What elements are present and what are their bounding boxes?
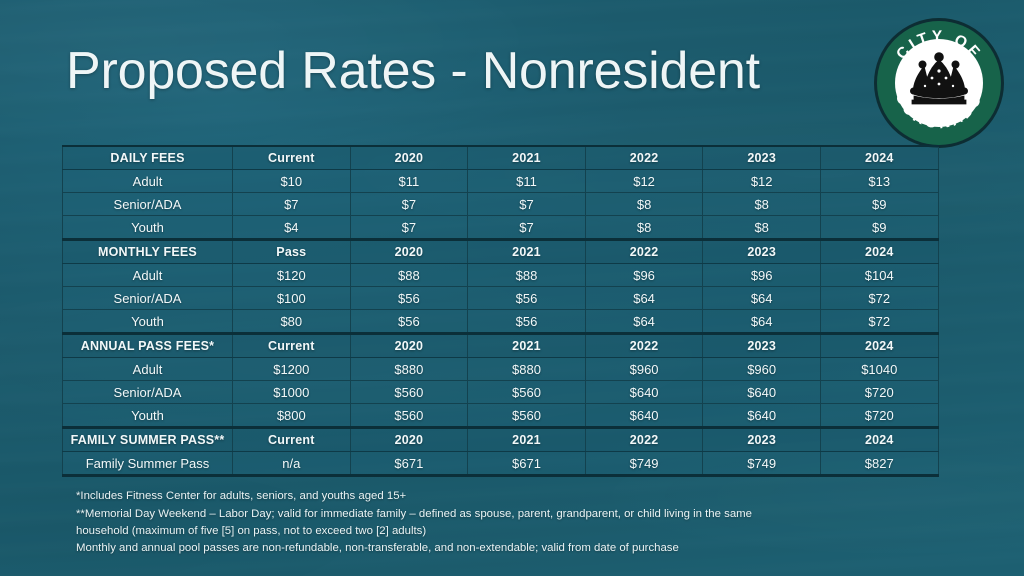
footnote-family-summer-pass: **Memorial Day Weekend – Labor Day; vali…	[76, 506, 776, 540]
rate-value-cell: $100	[233, 287, 351, 310]
section-column-header: 2021	[468, 240, 586, 264]
section-title-cell: ANNUAL PASS FEES*	[63, 334, 233, 358]
section-column-header: 2022	[585, 334, 703, 358]
rate-value-cell: $64	[585, 287, 703, 310]
rate-value-cell: $80	[233, 310, 351, 334]
rate-value-cell: $640	[703, 404, 821, 428]
table-row: Adult$10$11$11$12$12$13	[63, 170, 939, 193]
rate-value-cell: $671	[468, 452, 586, 476]
table-row: Senior/ADA$7$7$7$8$8$9	[63, 193, 939, 216]
section-column-header: 2023	[703, 334, 821, 358]
rate-value-cell: $56	[350, 287, 468, 310]
section-column-header: 2024	[820, 240, 938, 264]
rate-value-cell: $7	[233, 193, 351, 216]
row-label-cell: Youth	[63, 216, 233, 240]
section-column-header: Current	[233, 146, 351, 170]
rate-value-cell: $640	[585, 404, 703, 428]
table-row: Adult$120$88$88$96$96$104	[63, 264, 939, 287]
rate-value-cell: $56	[468, 287, 586, 310]
rate-value-cell: $640	[585, 381, 703, 404]
rate-value-cell: $749	[703, 452, 821, 476]
section-title-cell: MONTHLY FEES	[63, 240, 233, 264]
rate-value-cell: $8	[703, 216, 821, 240]
rate-value-cell: $8	[585, 216, 703, 240]
section-title-cell: FAMILY SUMMER PASS**	[63, 428, 233, 452]
rate-value-cell: $1040	[820, 358, 938, 381]
section-column-header: 2021	[468, 334, 586, 358]
rate-value-cell: $12	[585, 170, 703, 193]
rate-value-cell: $560	[350, 404, 468, 428]
rate-value-cell: $10	[233, 170, 351, 193]
rate-value-cell: $960	[703, 358, 821, 381]
rate-value-cell: $64	[585, 310, 703, 334]
city-of-coronado-logo: CITY OF CORONADO	[872, 16, 1006, 150]
rate-value-cell: $9	[820, 216, 938, 240]
section-header-row: MONTHLY FEESPass20202021202220232024	[63, 240, 939, 264]
rate-value-cell: $7	[350, 193, 468, 216]
section-header-row: ANNUAL PASS FEES*Current2020202120222023…	[63, 334, 939, 358]
row-label-cell: Senior/ADA	[63, 287, 233, 310]
rate-value-cell: $560	[350, 381, 468, 404]
rate-value-cell: $880	[350, 358, 468, 381]
row-label-cell: Senior/ADA	[63, 381, 233, 404]
rate-value-cell: $7	[468, 216, 586, 240]
section-header-row: FAMILY SUMMER PASS**Current2020202120222…	[63, 428, 939, 452]
rate-value-cell: $4	[233, 216, 351, 240]
rate-value-cell: $960	[585, 358, 703, 381]
rate-value-cell: $8	[703, 193, 821, 216]
rate-value-cell: $64	[703, 310, 821, 334]
rate-value-cell: $104	[820, 264, 938, 287]
table-row: Senior/ADA$1000$560$560$640$640$720	[63, 381, 939, 404]
rates-table-body: DAILY FEESCurrent20202021202220232024Adu…	[63, 146, 939, 476]
rate-value-cell: $720	[820, 404, 938, 428]
section-column-header: 2022	[585, 428, 703, 452]
table-row: Senior/ADA$100$56$56$64$64$72	[63, 287, 939, 310]
rate-value-cell: $560	[468, 381, 586, 404]
section-column-header: 2021	[468, 428, 586, 452]
table-row: Youth$80$56$56$64$64$72	[63, 310, 939, 334]
rate-value-cell: $88	[468, 264, 586, 287]
page-title: Proposed Rates - Nonresident	[66, 44, 760, 99]
section-column-header: Pass	[233, 240, 351, 264]
section-column-header: 2022	[585, 146, 703, 170]
table-row: Youth$800$560$560$640$640$720	[63, 404, 939, 428]
rate-value-cell: $671	[350, 452, 468, 476]
rate-value-cell: $800	[233, 404, 351, 428]
rate-value-cell: $56	[468, 310, 586, 334]
section-header-row: DAILY FEESCurrent20202021202220232024	[63, 146, 939, 170]
rate-value-cell: $56	[350, 310, 468, 334]
rate-value-cell: $827	[820, 452, 938, 476]
section-column-header: Current	[233, 428, 351, 452]
rate-value-cell: $640	[703, 381, 821, 404]
row-label-cell: Family Summer Pass	[63, 452, 233, 476]
rate-value-cell: $1200	[233, 358, 351, 381]
rate-value-cell: $72	[820, 310, 938, 334]
rate-value-cell: $64	[703, 287, 821, 310]
rate-value-cell: $96	[703, 264, 821, 287]
footnotes-block: *Includes Fitness Center for adults, sen…	[76, 488, 776, 558]
rate-value-cell: $9	[820, 193, 938, 216]
rate-value-cell: $120	[233, 264, 351, 287]
slide-canvas: Proposed Rates - Nonresident CITY OF COR…	[0, 0, 1024, 576]
section-title-cell: DAILY FEES	[63, 146, 233, 170]
row-label-cell: Adult	[63, 264, 233, 287]
section-column-header: 2020	[350, 428, 468, 452]
row-label-cell: Adult	[63, 170, 233, 193]
section-column-header: 2021	[468, 146, 586, 170]
rate-value-cell: $88	[350, 264, 468, 287]
rate-value-cell: $7	[350, 216, 468, 240]
row-label-cell: Senior/ADA	[63, 193, 233, 216]
section-column-header: 2024	[820, 334, 938, 358]
table-row: Adult$1200$880$880$960$960$1040	[63, 358, 939, 381]
rate-value-cell: $720	[820, 381, 938, 404]
section-column-header: 2020	[350, 334, 468, 358]
rate-value-cell: $96	[585, 264, 703, 287]
footnote-fitness-center: *Includes Fitness Center for adults, sen…	[76, 488, 776, 505]
section-column-header: 2023	[703, 240, 821, 264]
row-label-cell: Adult	[63, 358, 233, 381]
table-row: Youth$4$7$7$8$8$9	[63, 216, 939, 240]
section-column-header: 2020	[350, 146, 468, 170]
rate-value-cell: $8	[585, 193, 703, 216]
section-column-header: Current	[233, 334, 351, 358]
footnote-refund-policy: Monthly and annual pool passes are non-r…	[76, 540, 776, 557]
rate-value-cell: $12	[703, 170, 821, 193]
rate-value-cell: $11	[350, 170, 468, 193]
proposed-rates-table: DAILY FEESCurrent20202021202220232024Adu…	[62, 145, 939, 477]
rate-value-cell: $13	[820, 170, 938, 193]
row-label-cell: Youth	[63, 310, 233, 334]
section-column-header: 2020	[350, 240, 468, 264]
section-column-header: 2024	[820, 146, 938, 170]
rate-value-cell: $7	[468, 193, 586, 216]
table-row: Family Summer Passn/a$671$671$749$749$82…	[63, 452, 939, 476]
rate-value-cell: $880	[468, 358, 586, 381]
section-column-header: 2024	[820, 428, 938, 452]
rate-value-cell: $1000	[233, 381, 351, 404]
section-column-header: 2023	[703, 428, 821, 452]
rate-value-cell: $11	[468, 170, 586, 193]
section-column-header: 2023	[703, 146, 821, 170]
rate-value-cell: n/a	[233, 452, 351, 476]
rate-value-cell: $72	[820, 287, 938, 310]
rate-value-cell: $560	[468, 404, 586, 428]
rate-value-cell: $749	[585, 452, 703, 476]
section-column-header: 2022	[585, 240, 703, 264]
row-label-cell: Youth	[63, 404, 233, 428]
